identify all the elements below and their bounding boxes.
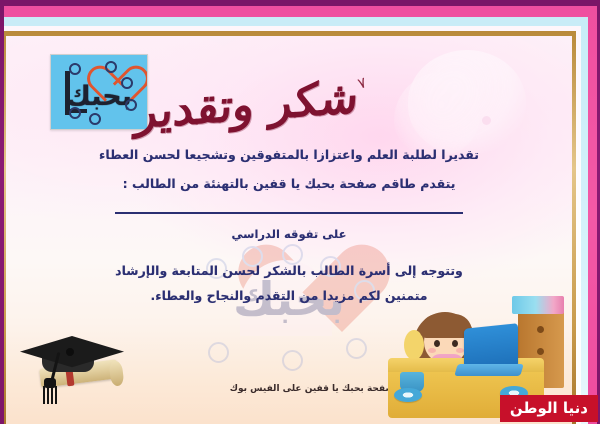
certificate: بحبك بحبك (0, 0, 600, 424)
source-watermark-badge: دنيا الوطن (500, 395, 598, 422)
certificate-title-text: شكر وتقدير (119, 69, 375, 139)
body-line-2: يتقدم طاقم صفحة بحبك يا قفين بالتهنئة من… (74, 177, 504, 190)
certificate-title: شكر وتقدير ٧ (122, 52, 372, 146)
recipient-name-blank[interactable] (115, 212, 463, 214)
body-line-1: تقديرا لطلبة العلم واعتزازا بالمتفوقين و… (74, 148, 504, 161)
certificate-body: تقديرا لطلبة العلم واعتزازا بالمتفوقين و… (6, 148, 572, 303)
body-line-3: على تفوقه الدراسي (74, 228, 504, 240)
certificate-face: بحبك بحبك (6, 36, 572, 424)
graduation-cap-illustration (14, 330, 132, 406)
body-line-4: وتتوجه إلى أسرة الطالب بالشكر لحسن المتا… (74, 264, 504, 277)
header: بحبك شكر وتقدير ٧ (6, 50, 572, 146)
